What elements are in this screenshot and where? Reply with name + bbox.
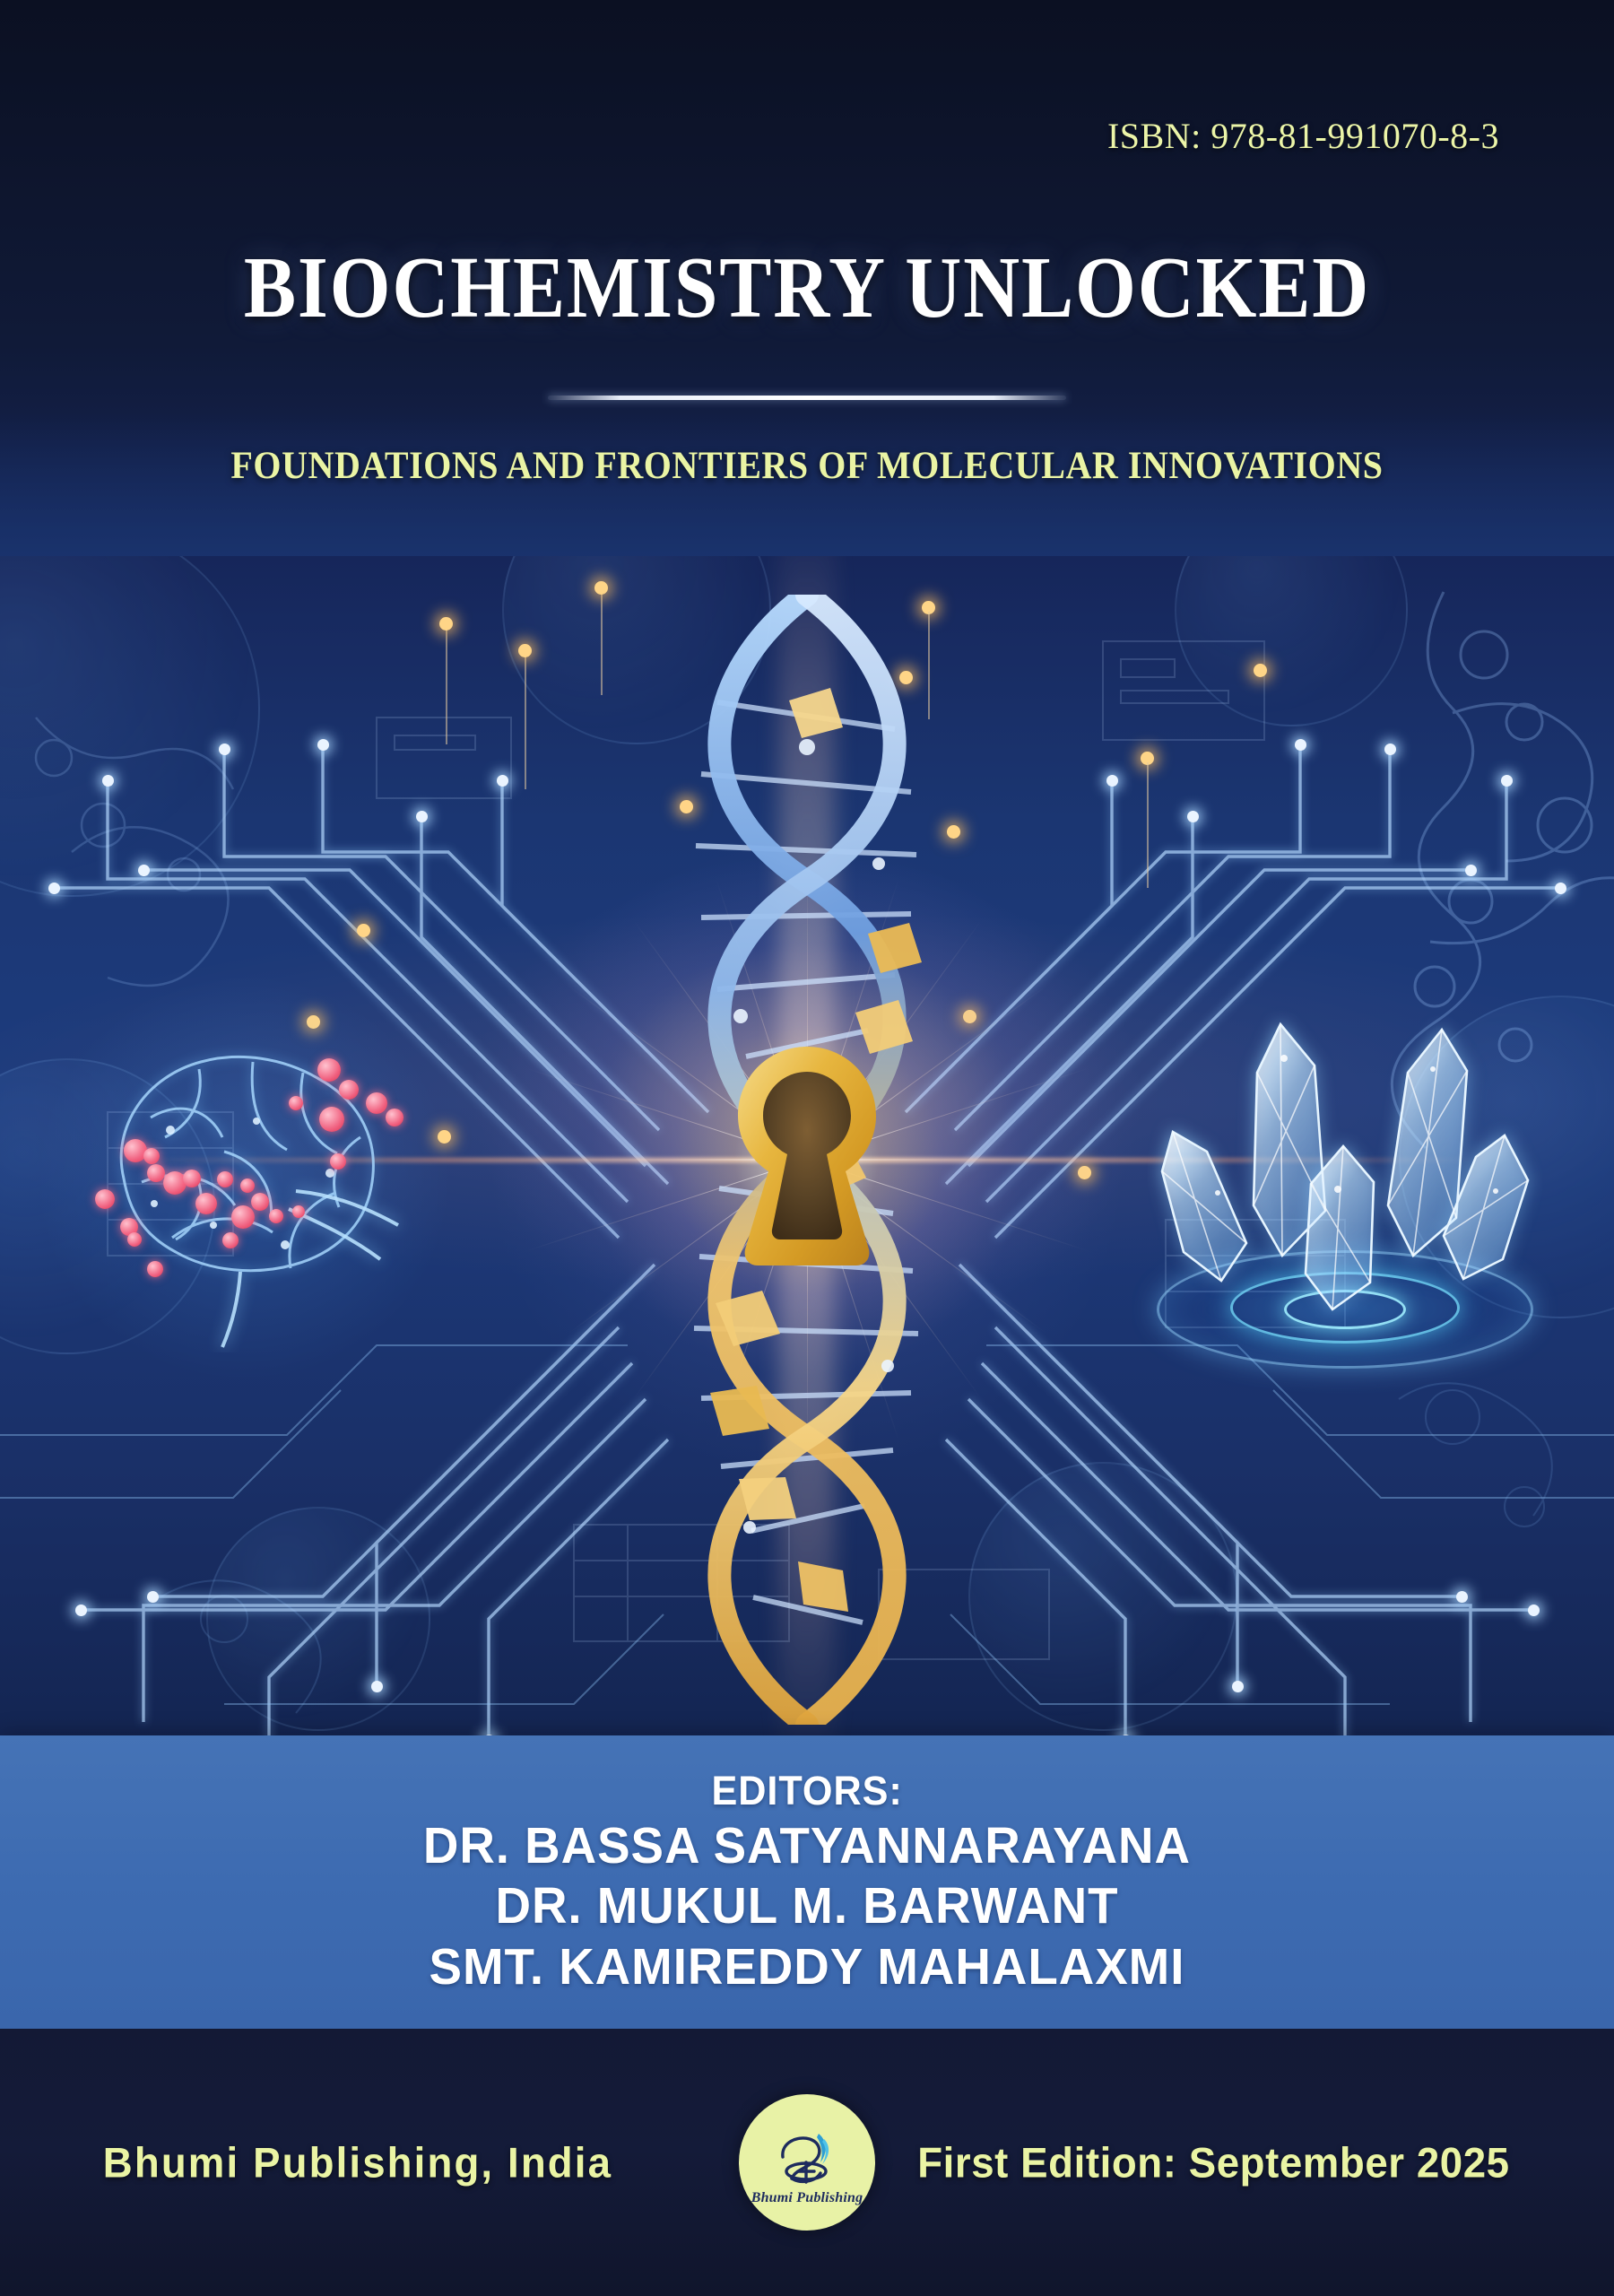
editor-name: DR. BASSA SATYANNARAYANA: [423, 1816, 1191, 1876]
logo-caption: Bhumi Publishing: [751, 2190, 863, 2206]
gold-circuit-node-icon: [439, 617, 453, 631]
title-divider: [548, 396, 1066, 400]
editors-band: EDITORS: DR. BASSA SATYANNARAYANA DR. MU…: [0, 1735, 1614, 2029]
editors-label: EDITORS:: [711, 1767, 902, 1816]
circuit-node-icon: [1501, 775, 1513, 787]
gold-circuit-node-icon: [594, 581, 608, 595]
bhumi-logo-mark-icon: [768, 2126, 846, 2189]
gold-node-stem: [446, 628, 447, 744]
circuit-node-icon: [1465, 865, 1477, 876]
circuit-node-icon: [48, 883, 60, 894]
circuit-node-icon: [1384, 744, 1396, 755]
circuit-node-icon: [497, 775, 508, 787]
circuit-node-icon: [1528, 1605, 1540, 1616]
edition-text: First Edition: September 2025: [917, 2138, 1509, 2187]
circuit-node-icon: [102, 775, 114, 787]
publisher-name: Bhumi Publishing, India: [103, 2138, 612, 2187]
circuit-node-icon: [75, 1605, 87, 1616]
gold-circuit-node-icon: [357, 924, 370, 937]
circuit-node-icon: [138, 865, 150, 876]
publisher-logo: Bhumi Publishing: [739, 2094, 875, 2231]
isbn-text: ISBN: 978-81-991070-8-3: [1107, 115, 1499, 157]
gold-node-stem: [525, 655, 526, 789]
page-subtitle: FOUNDATIONS AND FRONTIERS OF MOLECULAR I…: [56, 444, 1558, 488]
editor-name: SMT. KAMIREDDY MAHALAXMI: [430, 1937, 1185, 1997]
book-cover: ISBN: 978-81-991070-8-3 BIOCHEMISTRY UNL…: [0, 0, 1614, 2296]
cover-artwork: [0, 556, 1614, 1762]
gold-circuit-node-icon: [1254, 664, 1267, 677]
gold-circuit-node-icon: [518, 644, 532, 657]
circuit-node-icon: [1456, 1591, 1468, 1603]
circuit-node-icon: [371, 1681, 383, 1692]
editor-name: DR. MUKUL M. BARWANT: [495, 1876, 1118, 1936]
circuit-node-icon: [416, 811, 428, 822]
gold-node-stem: [1147, 762, 1149, 888]
footer-band: Bhumi Publishing, India Bhumi Publishing…: [0, 2029, 1614, 2296]
circuit-node-icon: [1295, 739, 1306, 751]
circuit-node-icon: [1106, 775, 1118, 787]
circuit-node-icon: [1555, 883, 1566, 894]
keyhole-icon: [736, 1045, 878, 1267]
page-title: BIOCHEMISTRY UNLOCKED: [81, 244, 1533, 333]
brain-hologram-icon: [65, 1003, 423, 1352]
circuit-node-icon: [317, 739, 329, 751]
gold-node-stem: [601, 592, 603, 695]
circuit-node-icon: [1187, 811, 1199, 822]
circuit-node-icon: [219, 744, 230, 755]
circuit-node-icon: [147, 1591, 159, 1603]
circuit-node-icon: [1232, 1681, 1244, 1692]
crystal-cluster-icon: [1148, 987, 1542, 1381]
